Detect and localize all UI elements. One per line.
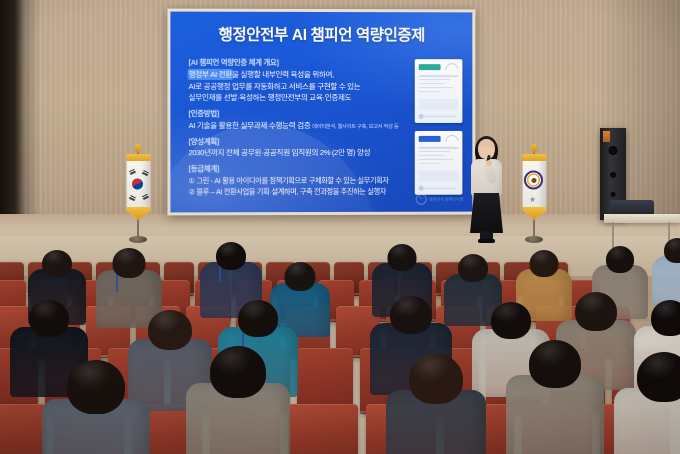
certificate-text-rows [419, 147, 459, 166]
certificate-footer [421, 187, 457, 189]
auditorium-scene: 행정안전부 AI 챔피언 역량인증제 [AI 챔피언 역량인증 체계 개요] 행… [0, 0, 680, 454]
audience-member-head [664, 238, 680, 263]
slide-section-heading: [양성계획] [189, 137, 411, 146]
audience-member [506, 340, 604, 454]
audience-member-head [390, 296, 432, 334]
slide-line-text: AI 기술을 활용한 실무과제 수행능력 검증 [189, 121, 311, 130]
presenter-shoes [478, 239, 495, 243]
slide-line: ① 그린 - AI 활용 아이디어를 정책기획으로 구체화할 수 있는 실무기획… [189, 175, 411, 187]
presentation-slide: 행정안전부 AI 챔피언 역량인증제 [AI 챔피언 역량인증 체계 개요] 행… [170, 12, 472, 213]
wall-left-shadow [0, 0, 24, 250]
certificate-body-block [419, 99, 459, 110]
presenter-skirt [470, 193, 503, 233]
audience-member-head [491, 302, 531, 339]
slide-section-heading: [인증방법] [189, 109, 411, 118]
flag-finial [135, 144, 141, 153]
audience-member [614, 352, 680, 454]
flag-cloth [522, 154, 546, 220]
certificate-thumbnail-blue [415, 131, 463, 195]
slide-section-heading: [AI 챔피언 역량인증 체계 개요] [189, 58, 411, 68]
government-mark-icon [530, 196, 536, 202]
slide-section-heading: [등급체계] [189, 164, 411, 174]
certificate-text-rows [419, 75, 459, 94]
audience-member-head [637, 352, 680, 402]
slide-line-note: 데이터분석, 웹사이트 구축, 보고서 작성 등 [312, 124, 398, 130]
audience-member-head [216, 242, 246, 270]
audience-member-head [210, 346, 266, 398]
auditorium-seat [0, 404, 46, 454]
certificate-thumbnail-green [415, 59, 463, 123]
flag-cloth [126, 154, 150, 220]
slide-line-text: 을 실행할 내부인력 육성을 위하여, [232, 70, 334, 79]
certificate-footer [421, 115, 457, 116]
audience-member-head [606, 246, 634, 273]
slide-line: 실무인재를 선발·육성하는 행정안전부의 교육·인증제도 [189, 92, 411, 104]
copyright-icon: C [416, 194, 427, 205]
slide-body: [AI 챔피언 역량인증 체계 개요] 행정부 AI 전환을 실행할 내부인력 … [189, 58, 411, 198]
audience-member [186, 346, 290, 454]
government-emblem-icon [524, 171, 543, 190]
auditorium-seat [288, 404, 358, 454]
audience-member-head [458, 254, 488, 282]
audience-member [386, 354, 486, 454]
audience-member-head [409, 354, 463, 404]
certificate-body-block [419, 171, 459, 182]
projection-screen: 행정안전부 AI 챔피언 역량인증제 [AI 챔피언 역량인증 체계 개요] 행… [167, 9, 475, 216]
audience-member-body [652, 256, 680, 306]
slide-line: 2030년까지 전체 공무원·공공직원 임직원의 2% (2만 명) 양성 [189, 147, 411, 159]
speaker-indicator [603, 131, 610, 142]
slide-line: AI로 공공행정 업무를 자동화하고 서비스를 구현할 수 있는 [189, 80, 411, 92]
trigram-icon [129, 195, 136, 201]
certificate-header-bar [419, 64, 441, 70]
trigram-icon [141, 194, 148, 200]
certificate-header-bar [419, 136, 441, 142]
audience-member [42, 360, 150, 454]
slide-line: ② 블루 – AI 전환사업을 기획·설계하며, 구축 전과정을 추진하는 실행… [189, 186, 411, 198]
audience-member-head [148, 310, 192, 350]
flag-stand [129, 236, 147, 243]
flag-stand [525, 236, 543, 243]
slide-line: 행정부 AI 전환을 실행할 내부인력 육성을 위하여, [189, 69, 411, 81]
audience-member-head [529, 340, 581, 388]
audience-member-head [530, 250, 559, 277]
flag-finial [531, 144, 537, 153]
audience-member-head [42, 250, 72, 277]
slide-line-highlight: 행정부 AI 전환 [189, 70, 232, 79]
audience-member-head [388, 244, 417, 271]
taeguk-symbol [130, 177, 145, 192]
audience-member-head [29, 300, 69, 337]
presenter-hand [486, 160, 492, 166]
presenter [466, 139, 508, 243]
audience-member-head [651, 300, 680, 336]
slide-watermark: C 대한민국 정책브리핑 [416, 194, 464, 205]
audience-member-head [238, 300, 278, 337]
audience-member-head [575, 292, 617, 331]
table-leg [612, 222, 614, 248]
trigram-icon [129, 169, 136, 175]
audience-member-head [67, 360, 125, 414]
government-flag [519, 150, 549, 238]
audience-member-head [285, 262, 316, 291]
slide-title: 행정안전부 AI 챔피언 역량인증제 [170, 23, 472, 46]
watermark-text: 대한민국 정책브리핑 [429, 197, 464, 202]
trigram-icon [141, 170, 148, 176]
slide-line: AI 기술을 활용한 실무과제 수행능력 검증 데이터분석, 웹사이트 구축, … [189, 120, 411, 132]
korean-national-flag [123, 150, 153, 238]
audience-member-head [113, 248, 146, 278]
